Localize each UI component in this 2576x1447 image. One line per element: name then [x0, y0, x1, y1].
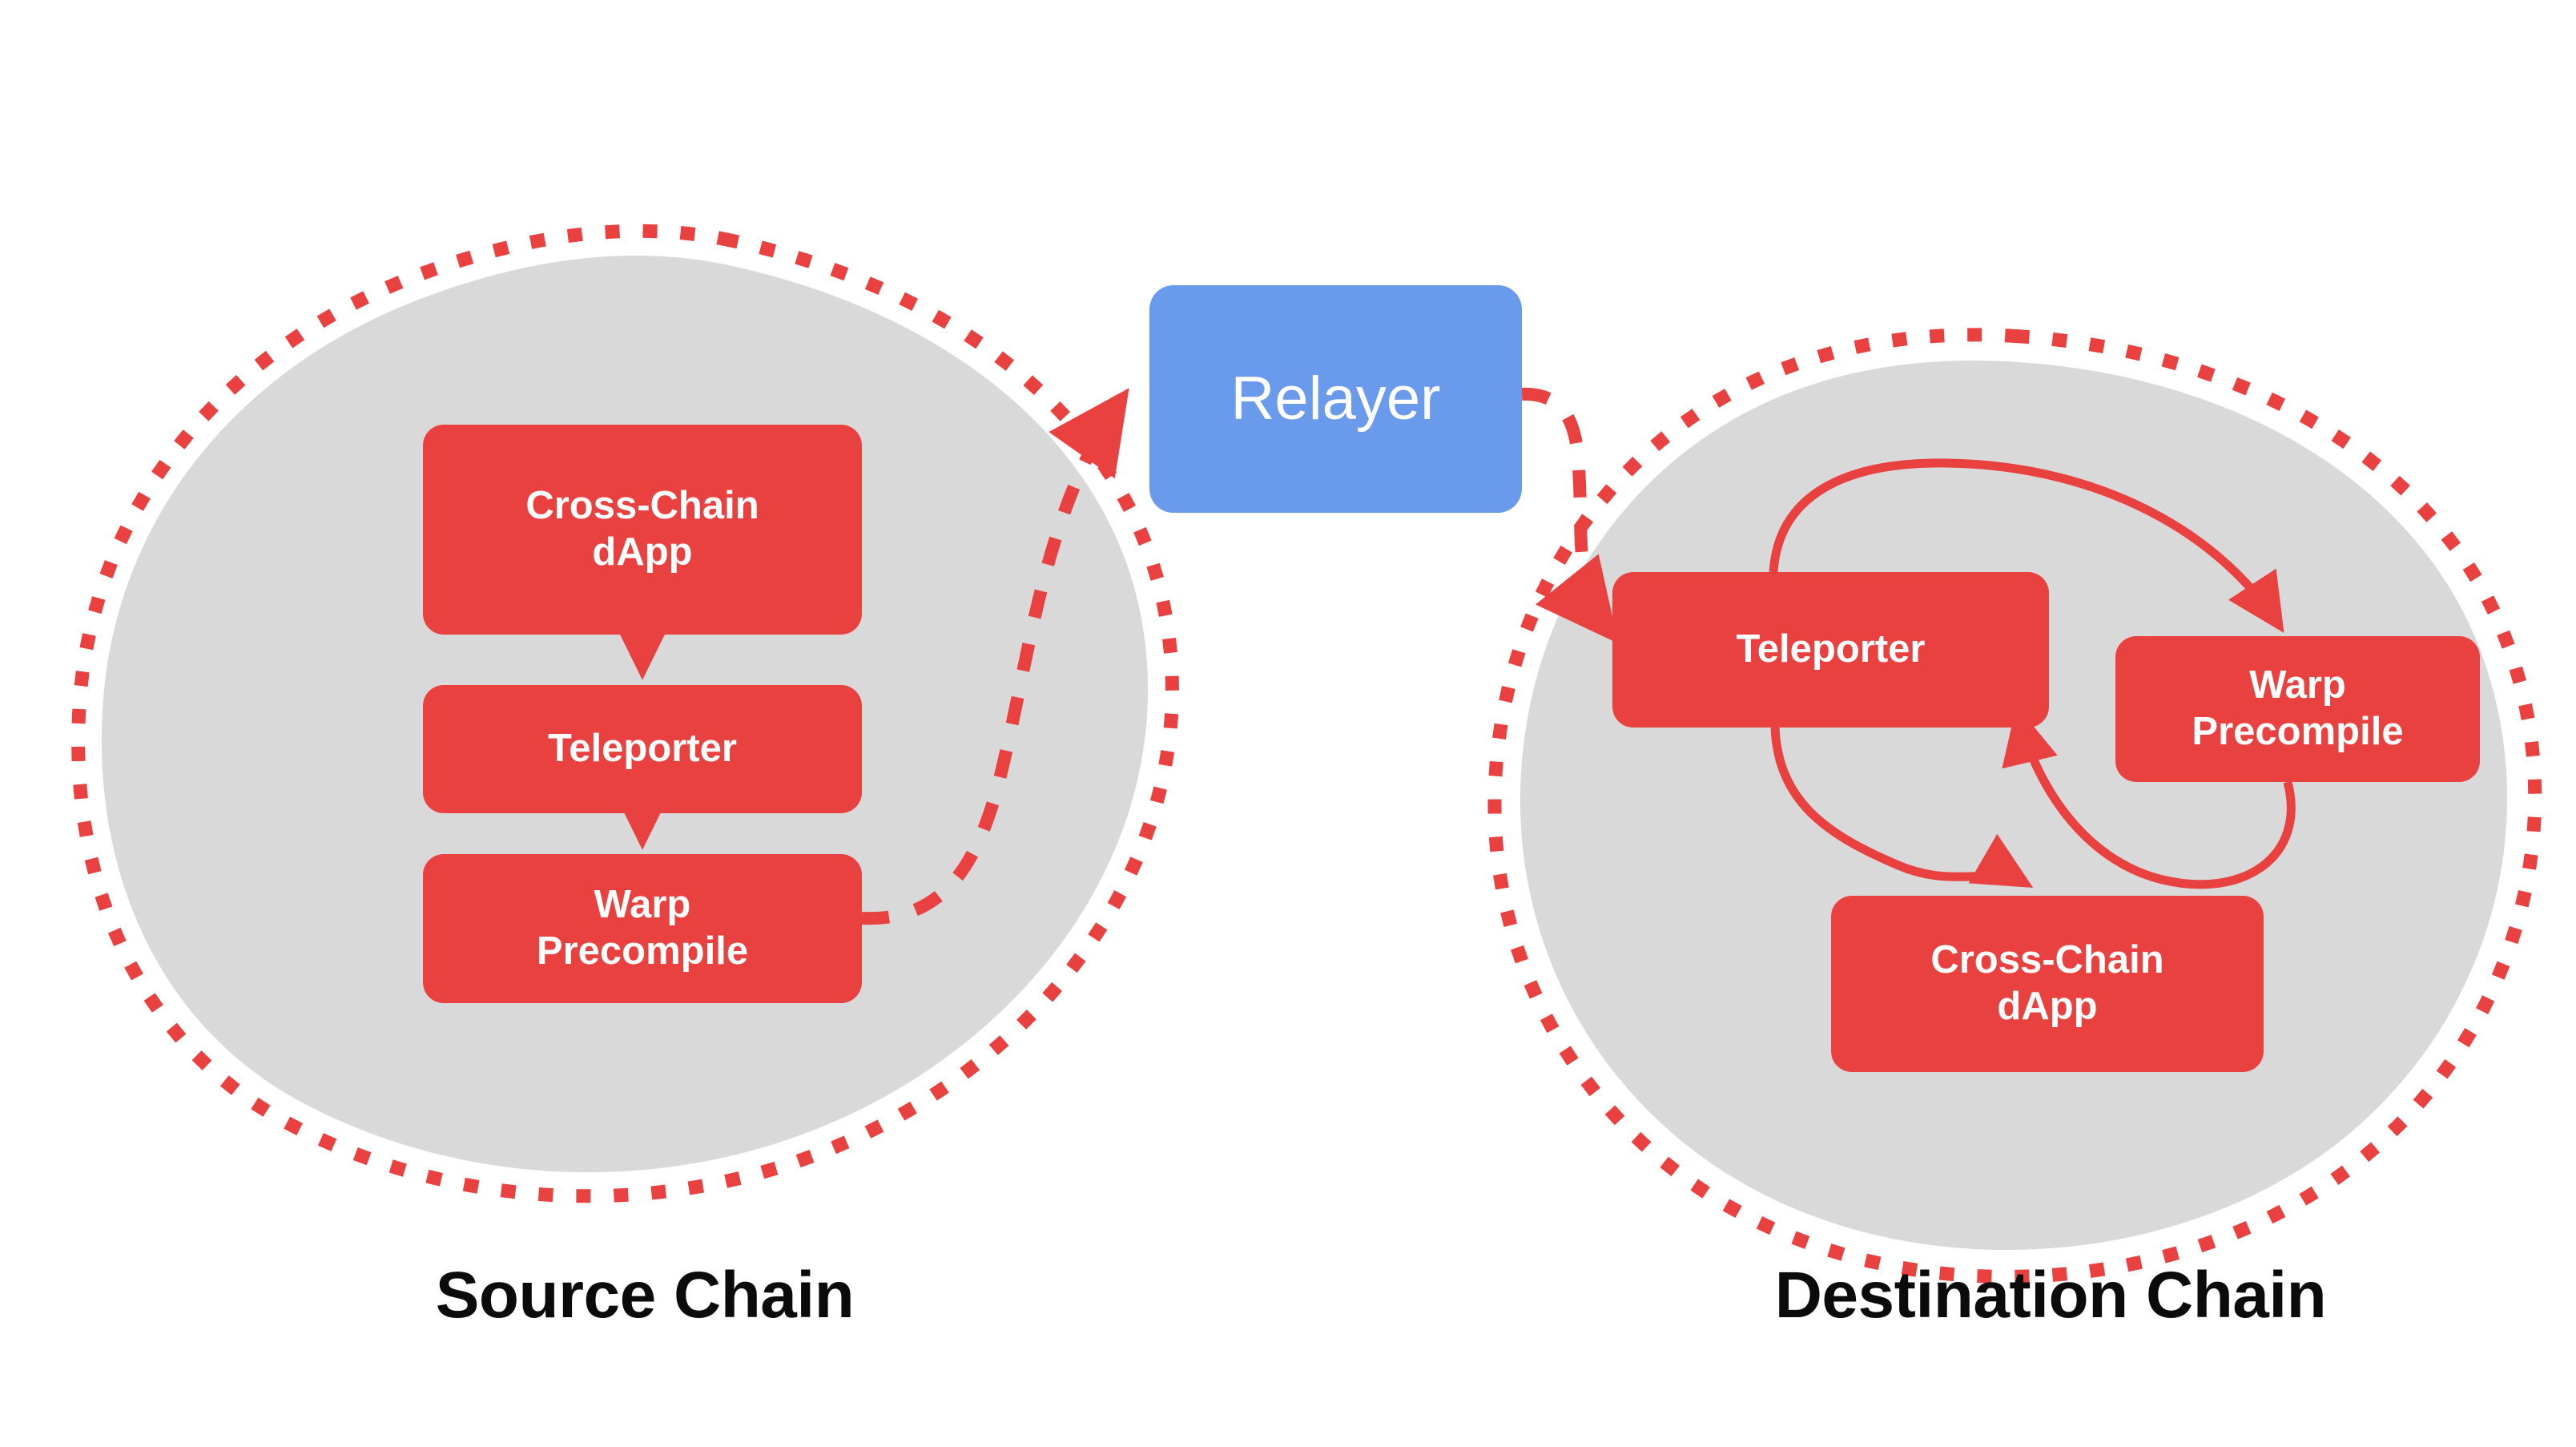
- source-warp-precompile-label: Warp Precompile: [537, 882, 748, 975]
- source-teleporter-label: Teleporter: [548, 726, 737, 772]
- destination-teleporter-label: Teleporter: [1737, 627, 1926, 673]
- destination-warp-line2: Precompile: [2192, 710, 2403, 753]
- source-warp-line2: Precompile: [537, 929, 748, 973]
- source-cross-chain-dapp-node[interactable]: Cross-Chain dApp: [423, 425, 862, 635]
- source-dapp-line2: dApp: [592, 530, 692, 574]
- source-cross-chain-dapp-label: Cross-Chain dApp: [525, 483, 759, 576]
- destination-cross-chain-dapp-node[interactable]: Cross-Chain dApp: [1831, 896, 2264, 1072]
- destination-dapp-line2: dApp: [1997, 985, 2097, 1028]
- destination-cross-chain-dapp-label: Cross-Chain dApp: [1930, 937, 2163, 1030]
- source-warp-precompile-node[interactable]: Warp Precompile: [423, 854, 862, 1003]
- destination-dapp-line1: Cross-Chain: [1930, 938, 2163, 981]
- destination-warp-precompile-node[interactable]: Warp Precompile: [2115, 636, 2480, 782]
- destination-warp-line1: Warp: [2249, 663, 2346, 707]
- source-dapp-line1: Cross-Chain: [525, 484, 759, 527]
- relayer-label: Relayer: [1231, 363, 1441, 435]
- destination-warp-precompile-label: Warp Precompile: [2192, 663, 2403, 756]
- source-teleporter-node[interactable]: Teleporter: [423, 685, 862, 813]
- destination-chain-caption: Destination Chain: [1546, 1258, 2555, 1333]
- relayer-node[interactable]: Relayer: [1149, 285, 1522, 513]
- destination-teleporter-node[interactable]: Teleporter: [1612, 572, 2049, 728]
- source-warp-line1: Warp: [594, 883, 691, 926]
- diagram-canvas: Cross-Chain dApp Teleporter Warp Precomp…: [0, 0, 2576, 1447]
- destination-chain-blob: [1520, 361, 2507, 1250]
- edge-relayer-to-dst-teleporter: [1522, 394, 1610, 633]
- source-chain-caption: Source Chain: [284, 1258, 1005, 1333]
